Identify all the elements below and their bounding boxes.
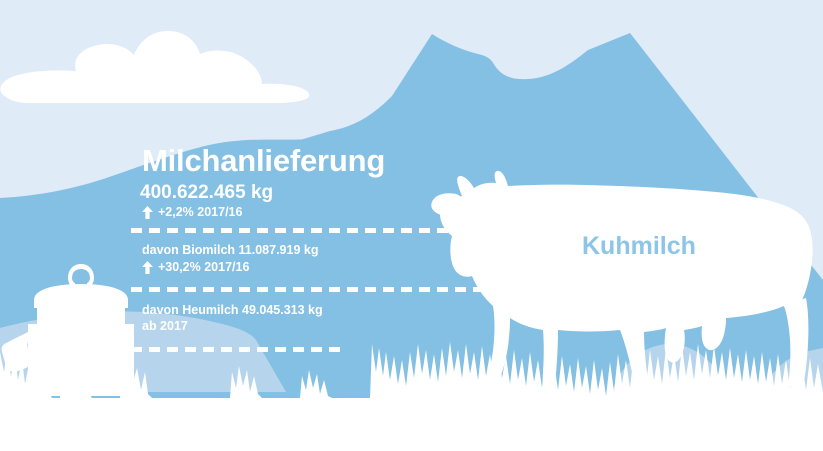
total-change-label: +2,2% 2017/16 (158, 205, 242, 219)
leader-line-total (131, 228, 461, 233)
leader-line-heumilch (131, 347, 341, 352)
infographic-canvas: Milchanlieferung 400.622.465 kg +2,2% 20… (0, 0, 823, 451)
total-change: +2,2% 2017/16 (142, 205, 242, 219)
arrow-up-icon (142, 261, 153, 274)
leader-line-biomilch (131, 287, 529, 292)
tier-biomilch-label: davon Biomilch 11.087.919 kg (142, 243, 318, 257)
scene-illustration (0, 0, 823, 451)
biomilch-change: +30,2% 2017/16 (142, 260, 249, 274)
biomilch-change-label: +30,2% 2017/16 (158, 260, 249, 274)
tier-biomilch: davon Biomilch 11.087.919 kg (142, 243, 318, 259)
page-title: Milchanlieferung (142, 145, 385, 176)
tier-heumilch: davon Heumilch 49.045.313 kg ab 2017 (142, 303, 323, 334)
tier-heumilch-note: ab 2017 (142, 319, 323, 335)
arrow-up-icon (142, 206, 153, 219)
total-value: 400.622.465 kg (140, 183, 273, 202)
cow-label: Kuhmilch (582, 234, 696, 259)
tier-heumilch-label: davon Heumilch 49.045.313 kg (142, 303, 323, 319)
